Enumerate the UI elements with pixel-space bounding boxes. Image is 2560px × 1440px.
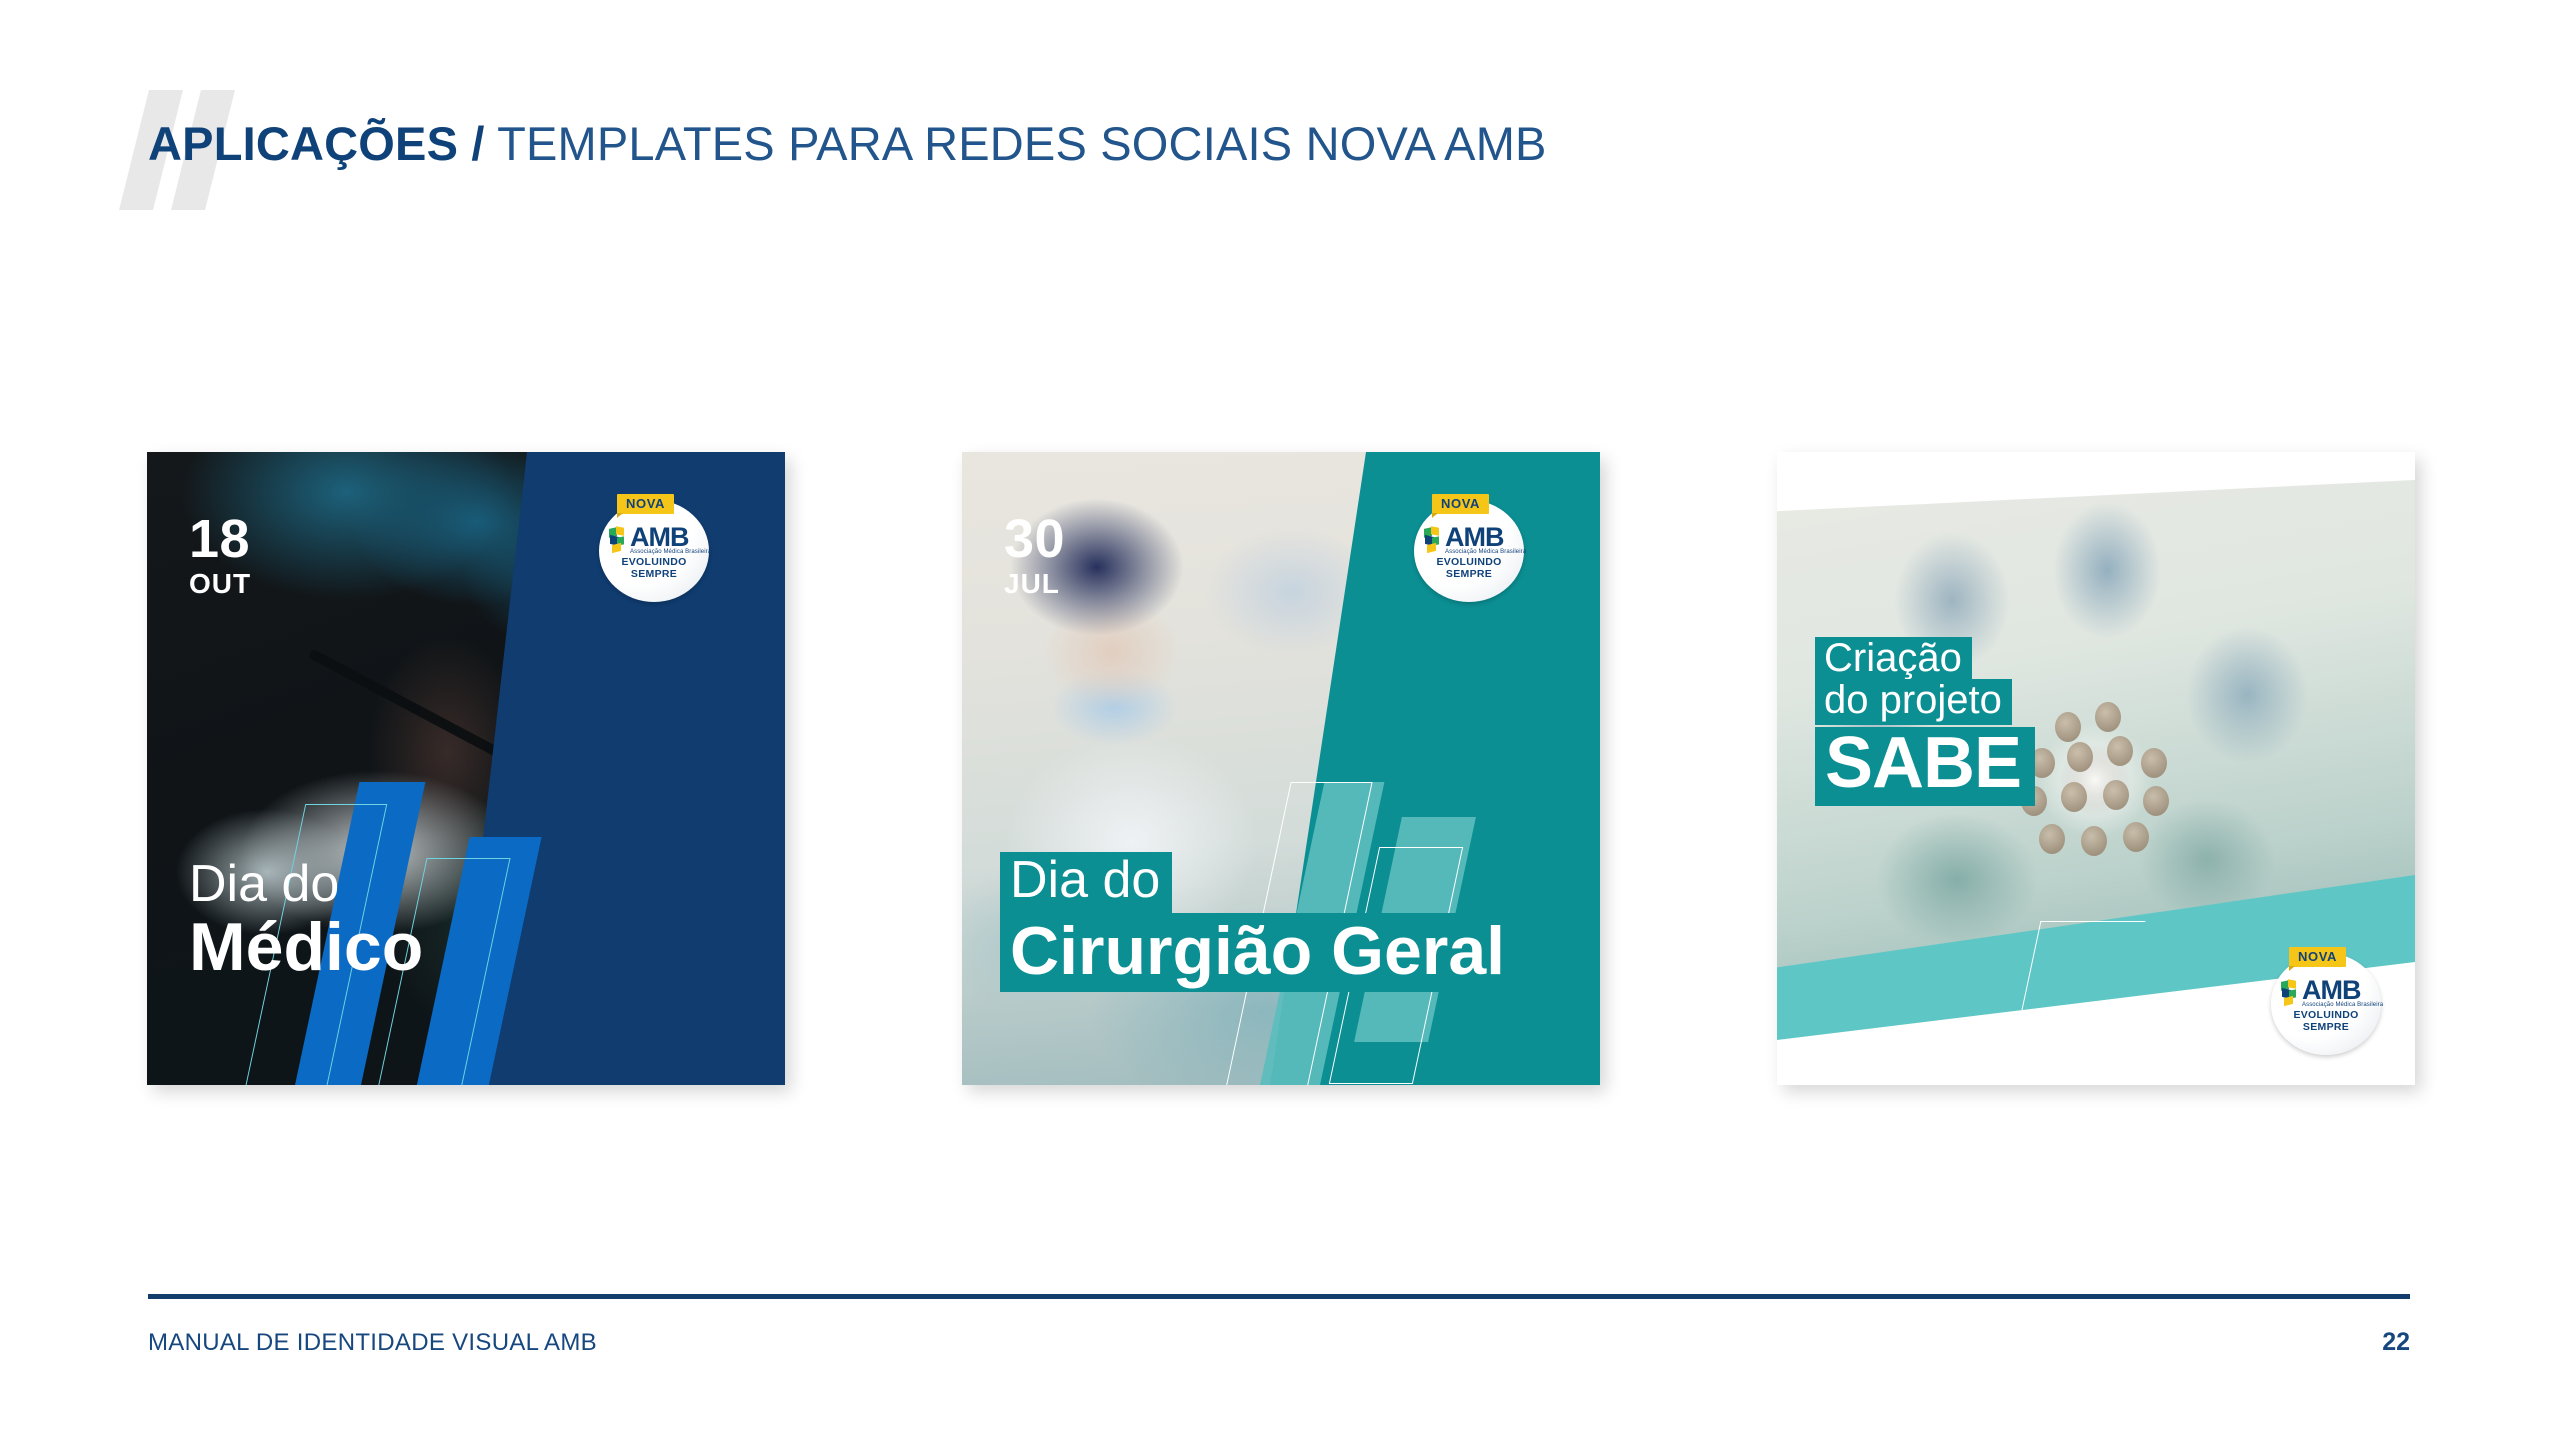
logo-wordmark: AMB <box>2302 978 2383 1002</box>
amb-logo: NOVA AMB Associação Médica Brasileira EV… <box>599 492 709 602</box>
card-headline-line1: Dia do <box>1010 854 1160 907</box>
card-date-month: OUT <box>189 570 251 598</box>
template-card-criacao-do-projeto-sabe[interactable]: Criação do projeto SABE NOVA AMB Associa… <box>1777 452 2415 1085</box>
deco-bar-outline <box>2020 921 2146 1019</box>
card-date-month: JUL <box>1004 570 1065 598</box>
card-headline-line1: Dia do <box>189 858 423 911</box>
card-date-day: 18 <box>189 512 251 566</box>
page-title-bold: APLICAÇÕES / <box>148 117 485 170</box>
amb-logo: NOVA AMB Associação Médica Brasileira EV… <box>2271 945 2381 1055</box>
footer-divider <box>148 1294 2410 1299</box>
logo-wordmark: AMB <box>1445 525 1526 549</box>
card-date: 30 JUL <box>1004 512 1065 598</box>
logo-wordmark-row: AMB Associação Médica Brasileira <box>2280 978 2375 1009</box>
card-date: 18 OUT <box>189 512 251 598</box>
templates-gallery: 18 OUT Dia do Médico NOVA AMB Associação… <box>0 452 2560 1092</box>
template-card-dia-do-cirurgiao-geral[interactable]: 30 JUL Dia do Cirurgião Geral NOVA AMB A… <box>962 452 1600 1085</box>
amb-brazil-caduceus-icon <box>1423 527 1443 553</box>
logo-nova-tab: NOVA <box>2289 947 2346 967</box>
logo-tagline-line1: EVOLUINDO <box>2293 1009 2358 1021</box>
card-headline-line2: Cirurgião Geral <box>1010 917 1505 986</box>
logo-tagline-line2: SEMPRE <box>631 568 677 580</box>
page-title-light: TEMPLATES PARA REDES SOCIAIS NOVA AMB <box>497 117 1547 170</box>
footer-document-title: MANUAL DE IDENTIDADE VISUAL AMB <box>148 1329 597 1357</box>
page-footer: MANUAL DE IDENTIDADE VISUAL AMB 22 <box>148 1328 2410 1357</box>
template-card-dia-do-medico[interactable]: 18 OUT Dia do Médico NOVA AMB Associação… <box>147 452 785 1085</box>
card-headline: Dia do Cirurgião Geral <box>1000 852 1600 992</box>
card-headline-line1: Criação <box>1824 636 1962 680</box>
logo-subtitle: Associação Médica Brasileira <box>1445 550 1526 555</box>
logo-tagline: EVOLUINDO SEMPRE <box>1414 556 1524 580</box>
logo-wordmark: AMB <box>630 525 711 549</box>
logo-tagline-line2: SEMPRE <box>1446 568 1492 580</box>
footer-page-number: 22 <box>2382 1328 2410 1357</box>
amb-logo: NOVA AMB Associação Médica Brasileira EV… <box>1414 492 1524 602</box>
page-title: APLICAÇÕES / TEMPLATES PARA REDES SOCIAI… <box>148 120 1547 167</box>
card-headline-big: SABE <box>1825 723 2021 803</box>
page-header: APLICAÇÕES / TEMPLATES PARA REDES SOCIAI… <box>148 120 1547 210</box>
logo-wordmark-row: AMB Associação Médica Brasileira <box>1423 525 1518 556</box>
card-headline: Criação do projeto SABE <box>1815 637 2035 806</box>
logo-subtitle: Associação Médica Brasileira <box>2302 1003 2383 1008</box>
logo-tagline-line1: EVOLUINDO <box>621 556 686 568</box>
logo-tagline-line1: EVOLUINDO <box>1436 556 1501 568</box>
logo-tagline-line2: SEMPRE <box>2303 1021 2349 1033</box>
card-headline: Dia do Médico <box>189 858 423 982</box>
card-headline-line2: do projeto <box>1824 678 2002 722</box>
logo-subtitle: Associação Médica Brasileira <box>630 550 711 555</box>
card-date-day: 30 <box>1004 512 1065 566</box>
logo-tagline: EVOLUINDO SEMPRE <box>599 556 709 580</box>
amb-brazil-caduceus-icon <box>2280 980 2300 1006</box>
logo-nova-tab: NOVA <box>1432 494 1489 514</box>
card-headline-line2: Médico <box>189 913 423 982</box>
logo-wordmark-row: AMB Associação Médica Brasileira <box>608 525 703 556</box>
logo-nova-tab: NOVA <box>617 494 674 514</box>
logo-tagline: EVOLUINDO SEMPRE <box>2271 1009 2381 1033</box>
amb-brazil-caduceus-icon <box>608 527 628 553</box>
